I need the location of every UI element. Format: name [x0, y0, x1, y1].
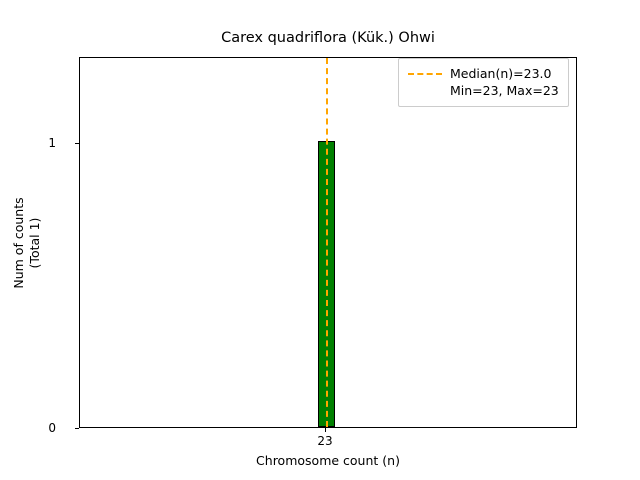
legend-label-minmax: Min=23, Max=23 [450, 82, 559, 99]
plot-area [79, 57, 577, 428]
y-axis-label-line2: (Total 1) [27, 197, 43, 288]
x-tick-label-23: 23 [295, 434, 355, 448]
y-axis-label: Num of counts (Total 1) [11, 197, 43, 288]
y-tick-mark-0 [75, 428, 79, 429]
legend-label-median: Median(n)=23.0 [450, 65, 559, 82]
y-axis-label-line1: Num of counts [11, 197, 27, 288]
legend-entry-median: Median(n)=23.0 Min=23, Max=23 [450, 65, 559, 99]
legend-dashed-line-icon [408, 73, 442, 75]
median-vline [326, 58, 328, 427]
legend[interactable]: Median(n)=23.0 Min=23, Max=23 [398, 58, 569, 107]
y-tick-label-1: 1 [16, 137, 56, 149]
y-axis-label-container: Num of counts (Total 1) [0, 57, 54, 428]
page-title: Carex quadriflora (Kük.) Ohwi [79, 30, 577, 47]
y-tick-label-0: 0 [16, 422, 56, 434]
x-tick-mark-23 [325, 428, 326, 432]
x-axis-label: Chromosome count (n) [79, 453, 577, 468]
chart-figure: Carex quadriflora (Kük.) Ohwi Num of cou… [0, 0, 640, 480]
